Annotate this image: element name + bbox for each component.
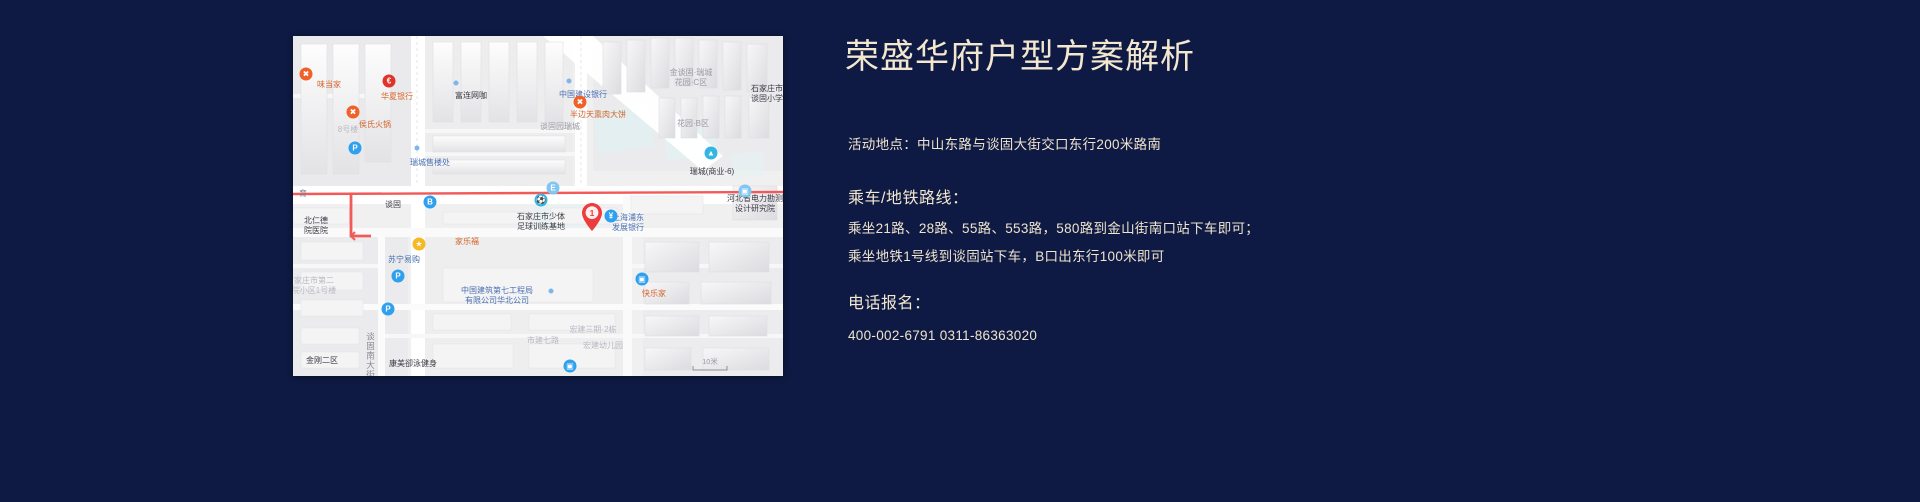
food-pin[interactable]: ✖ (300, 68, 313, 81)
page-title: 荣盛华府户型方案解析 (845, 34, 1195, 80)
shop-pin[interactable]: ★ (413, 238, 426, 251)
event-location-line: 活动地点：中山东路与谈固大街交口东行200米路南 (848, 135, 1161, 155)
poi-dot[interactable] (549, 289, 554, 294)
transit-heading: 乘车/地铁路线： (848, 188, 968, 210)
parking-pin[interactable]: P (392, 270, 405, 283)
metro-route-line: 乘坐地铁1号线到谈固站下车，B口出东行100米即可 (848, 247, 1165, 267)
poi-dot[interactable] (567, 79, 572, 84)
sport-pin[interactable]: ⚽ (535, 194, 548, 207)
bank-pin[interactable]: ¥ (605, 210, 618, 223)
phone-heading: 电话报名： (848, 293, 931, 315)
poi-dot[interactable] (454, 81, 459, 86)
bus-routes-line: 乘坐21路、28路、55路、553路，580路到金山街南口站下车即可； (848, 219, 1259, 239)
poi-dot[interactable] (415, 146, 420, 151)
location-map[interactable]: 华夏银行富连网咖中国建设银行金谈固·瑞城花园·C区味当家侯氏火锅半边天熏肉大饼谈… (293, 36, 783, 376)
bank-pin[interactable]: € (383, 75, 396, 88)
slide-canvas: 华夏银行富连网咖中国建设银行金谈固·瑞城花园·C区味当家侯氏火锅半边天熏肉大饼谈… (0, 0, 1920, 502)
poi-pin[interactable]: ▣ (636, 273, 649, 286)
event-info-panel: 荣盛华府户型方案解析 活动地点：中山东路与谈固大街交口东行200米路南 乘车/地… (845, 0, 1845, 502)
poi-pin[interactable]: ▣ (564, 360, 577, 373)
svg-text:1: 1 (590, 208, 595, 218)
parking-pin[interactable]: P (382, 303, 395, 316)
food-pin[interactable]: ✖ (574, 96, 587, 109)
poi-pin[interactable]: ▲ (705, 147, 718, 160)
poi-pin[interactable]: ▣ (739, 185, 752, 198)
metro-exit-b[interactable]: B (424, 196, 437, 209)
parking-pin[interactable]: P (349, 142, 362, 155)
metro-exit-e[interactable]: E (547, 182, 560, 195)
destination-marker[interactable]: 1 (582, 203, 602, 231)
phone-numbers[interactable]: 400-002-6791 0311-86363020 (848, 326, 1037, 346)
food-pin[interactable]: ✖ (347, 106, 360, 119)
